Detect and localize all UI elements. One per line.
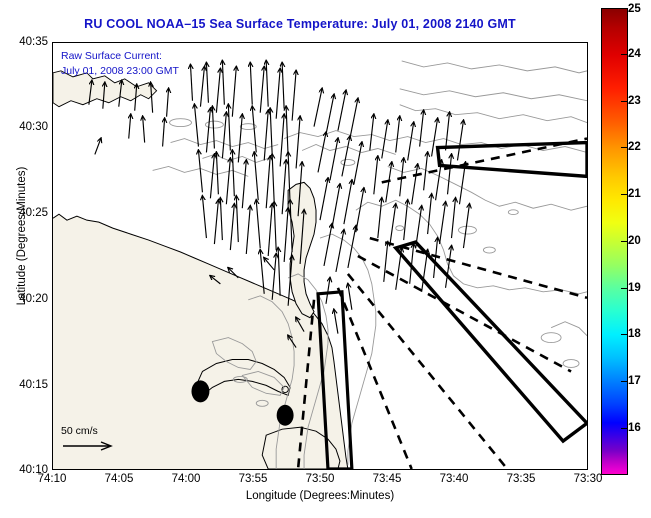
station-marker [277, 405, 294, 426]
scale-key-label: 50 cm/s [61, 425, 117, 437]
y-axis-label: Latitude (Degrees:Minutes) [16, 126, 28, 346]
x-tick: 73:40 [440, 473, 469, 485]
annotation-line-2: July 01, 2008 23:00 GMT [61, 64, 179, 79]
scale-arrow-icon [61, 440, 117, 455]
page-title: RU COOL NOAA–15 Sea Surface Temperature:… [0, 17, 600, 31]
x-tick: 73:35 [507, 473, 536, 485]
x-tick: 73:30 [574, 473, 603, 485]
x-tick: 74:05 [105, 473, 134, 485]
colorbar-tick: 20 [628, 235, 641, 247]
shipping-lane-corridors [318, 143, 587, 469]
x-tick: 73:50 [306, 473, 335, 485]
map-graphics [53, 43, 587, 469]
vector-scale-key: 50 cm/s [61, 425, 117, 455]
colorbar-tick: 17 [628, 375, 641, 387]
colorbar-tick: 25 [628, 3, 641, 15]
land-mass [53, 71, 348, 469]
colorbar-tick: 22 [628, 141, 641, 153]
x-axis-label: Longitude (Degrees:Minutes) [52, 490, 588, 502]
station-marker [191, 380, 209, 402]
colorbar-tick: 18 [628, 328, 641, 340]
x-tick: 74:00 [172, 473, 201, 485]
annotation-line-1: Raw Surface Current: [61, 49, 179, 64]
colorbar-tick: 23 [628, 95, 641, 107]
x-tick: 73:55 [239, 473, 268, 485]
map-plot-area[interactable]: Raw Surface Current: July 01, 2008 23:00… [52, 42, 588, 470]
y-tick: 40:10 [19, 464, 48, 476]
y-tick: 40:35 [19, 36, 48, 48]
y-tick: 40:15 [19, 379, 48, 391]
colorbar-tick: 16 [628, 422, 641, 434]
figure-canvas: RU COOL NOAA–15 Sea Surface Temperature:… [0, 0, 651, 518]
current-annotation: Raw Surface Current: July 01, 2008 23:00… [61, 49, 179, 79]
x-tick: 73:45 [373, 473, 402, 485]
colorbar-tick: 19 [628, 282, 641, 294]
colorbar-tick: 24 [628, 48, 641, 60]
colorbar-tick: 21 [628, 188, 641, 200]
